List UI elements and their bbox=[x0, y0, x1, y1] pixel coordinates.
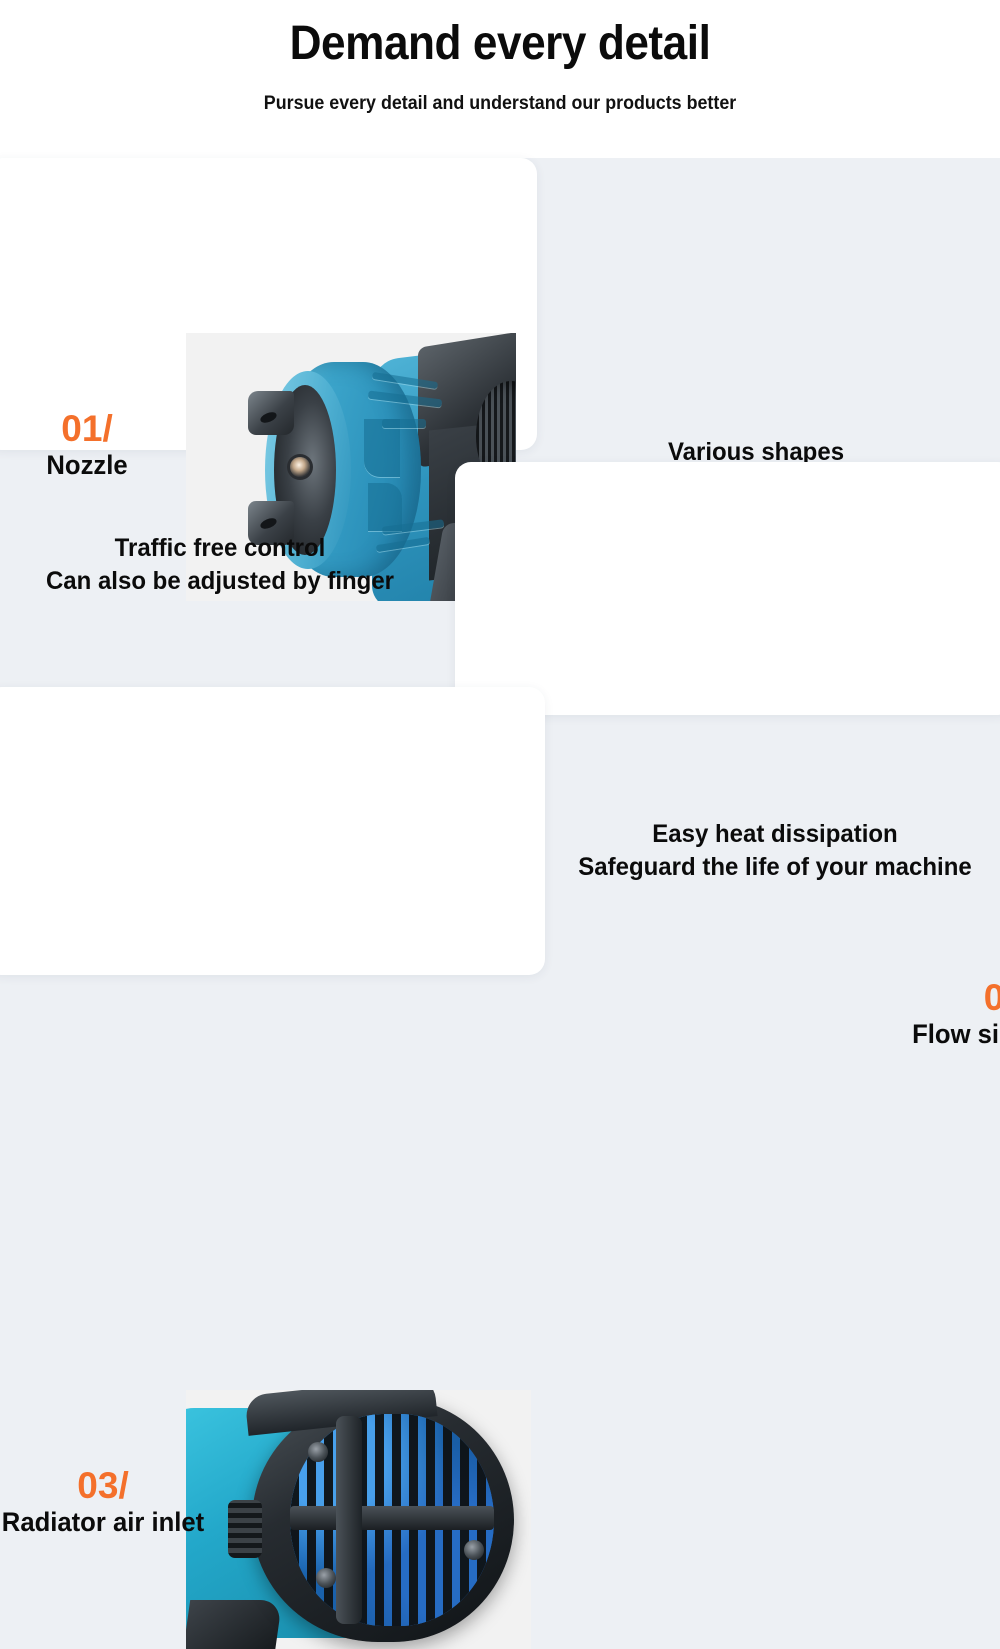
feature-number-03: 03/ bbox=[0, 1467, 218, 1506]
feature-caption-02: Flow size switch bbox=[912, 1018, 1000, 1052]
radiator-grille-photo bbox=[186, 1390, 531, 1649]
feature-label-03: 03/ Radiator air inlet bbox=[0, 1467, 218, 1540]
radiator-side-tab-shape bbox=[228, 1500, 262, 1558]
feature-number-01: 01/ bbox=[2, 410, 172, 449]
radiator-crossbar-shape bbox=[290, 1506, 494, 1530]
page-title: Demand every detail bbox=[40, 16, 960, 71]
feature-caption-03: Radiator air inlet bbox=[0, 1506, 212, 1540]
feature-description-02: Traffic free control Can also be adjuste… bbox=[9, 532, 431, 598]
radiator-screw-right-shape bbox=[464, 1540, 484, 1560]
product-detail-infographic: Demand every detail Pursue every detail … bbox=[0, 0, 1000, 1000]
feature-description-02-line1: Traffic free control bbox=[9, 532, 431, 565]
feature-number-02: 02/ bbox=[907, 979, 1000, 1018]
nozzle-fin-shape bbox=[382, 419, 426, 428]
feature-card-03: 03/ Radiator air inlet bbox=[0, 687, 545, 975]
header-banner: Demand every detail Pursue every detail … bbox=[0, 0, 1000, 158]
feature-card-01: 01/ Nozzle Various shapes 360 rotatable … bbox=[0, 158, 537, 450]
radiator-screw-top-left-shape bbox=[308, 1442, 328, 1462]
page-subtitle: Pursue every detail and understand our p… bbox=[30, 93, 970, 115]
nozzle-orifice-shape bbox=[290, 457, 310, 477]
radiator-vertical-bar-shape bbox=[336, 1416, 362, 1624]
nozzle-fin-shape bbox=[368, 483, 402, 531]
feature-description-03-line1: Easy heat dissipation bbox=[569, 818, 982, 851]
feature-description-02-line2: Can also be adjusted by finger bbox=[9, 565, 431, 598]
feature-description-03-line2: Safeguard the life of your machine bbox=[569, 851, 982, 884]
feature-card-02: 02/ Flow size switch bbox=[455, 462, 1000, 715]
radiator-screw-bottom-left-shape bbox=[316, 1568, 336, 1588]
feature-caption-01: Nozzle bbox=[6, 449, 168, 483]
radiator-handle-shape bbox=[186, 1600, 282, 1649]
feature-description-03: Easy heat dissipation Safeguard the life… bbox=[569, 818, 982, 884]
feature-label-02: 02/ Flow size switch bbox=[907, 979, 1000, 1052]
feature-label-01: 01/ Nozzle bbox=[2, 410, 172, 483]
